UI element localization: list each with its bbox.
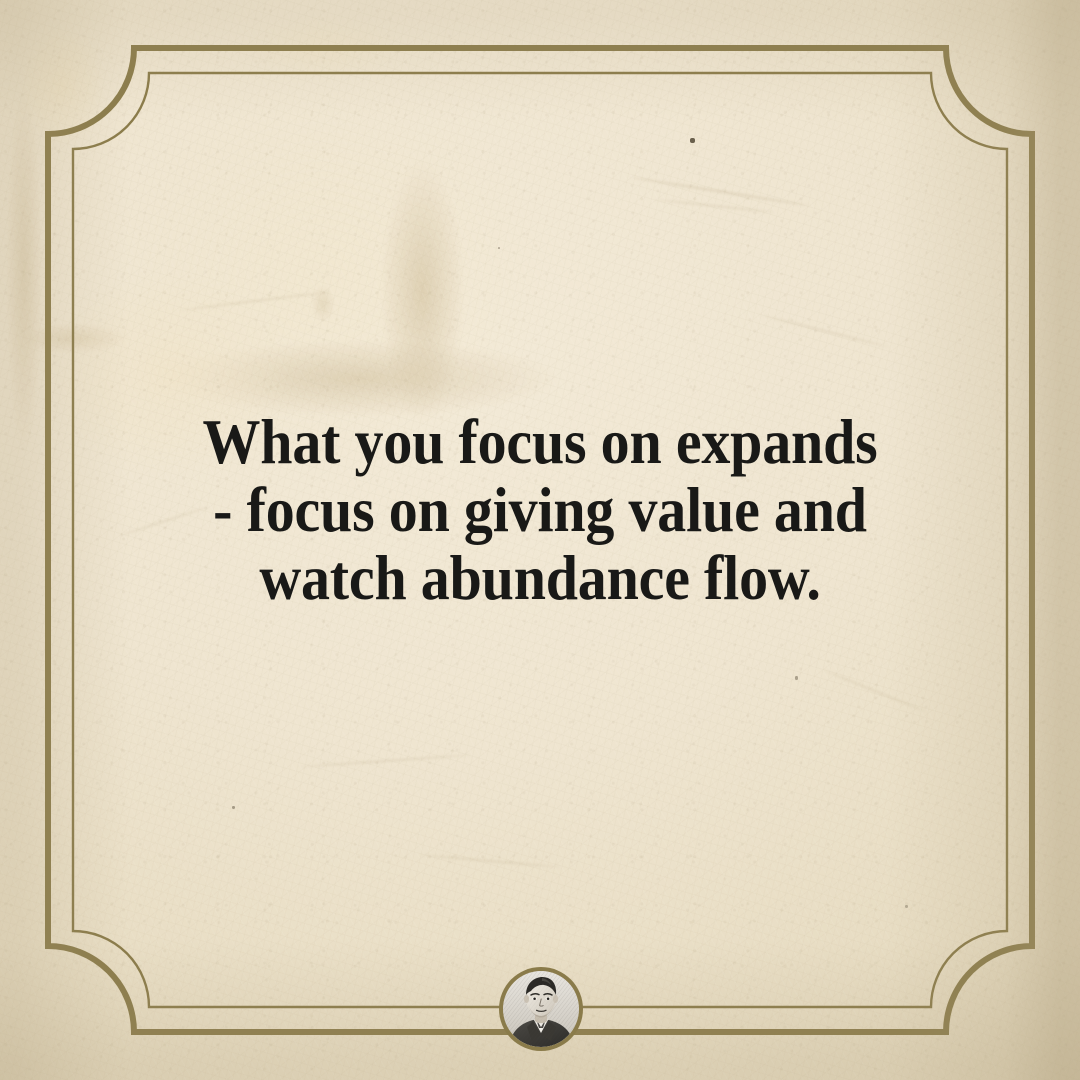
portrait-engraving-icon: [503, 971, 579, 1047]
quote-line-2: - focus on giving value and: [43, 476, 1037, 544]
quote-text-block: What you focus on expands - focus on giv…: [0, 408, 1080, 612]
quote-line-3: watch abundance flow.: [43, 544, 1037, 612]
quote-line-1: What you focus on expands: [43, 408, 1037, 476]
quote-card: What you focus on expands - focus on giv…: [0, 0, 1080, 1080]
author-portrait-medallion: [503, 971, 579, 1047]
